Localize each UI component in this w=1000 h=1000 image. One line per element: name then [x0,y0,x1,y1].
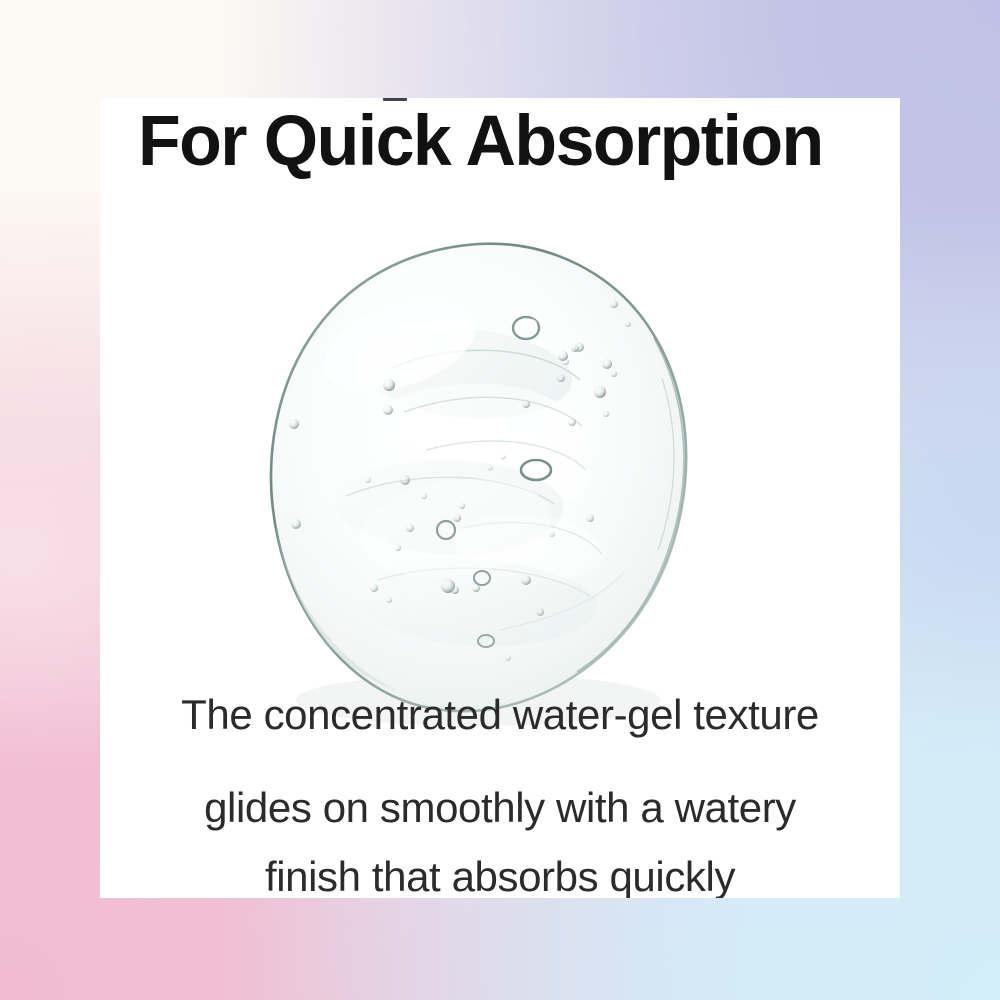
page-title: For Quick Absorption [138,106,879,178]
product-info-card: For Quick Absorption [100,98,900,898]
body-copy-line-2: glides on smoothly with a watery [100,761,900,854]
body-copy: The concentrated water-gel texture glide… [100,668,900,898]
body-copy-line-1-text: The concentrated water-gel texture [181,691,819,739]
body-copy-line-3: finish that absorbs quickly [100,854,900,898]
gel-texture-image [250,228,700,738]
body-copy-line-3-text: finish that absorbs quickly [265,856,735,898]
page-root: For Quick Absorption [0,0,1000,1000]
body-copy-line-2-text: glides on smoothly with a watery [204,784,796,832]
body-copy-line-1: The concentrated water-gel texture [100,668,900,761]
clipped-text-fragment [383,98,407,101]
